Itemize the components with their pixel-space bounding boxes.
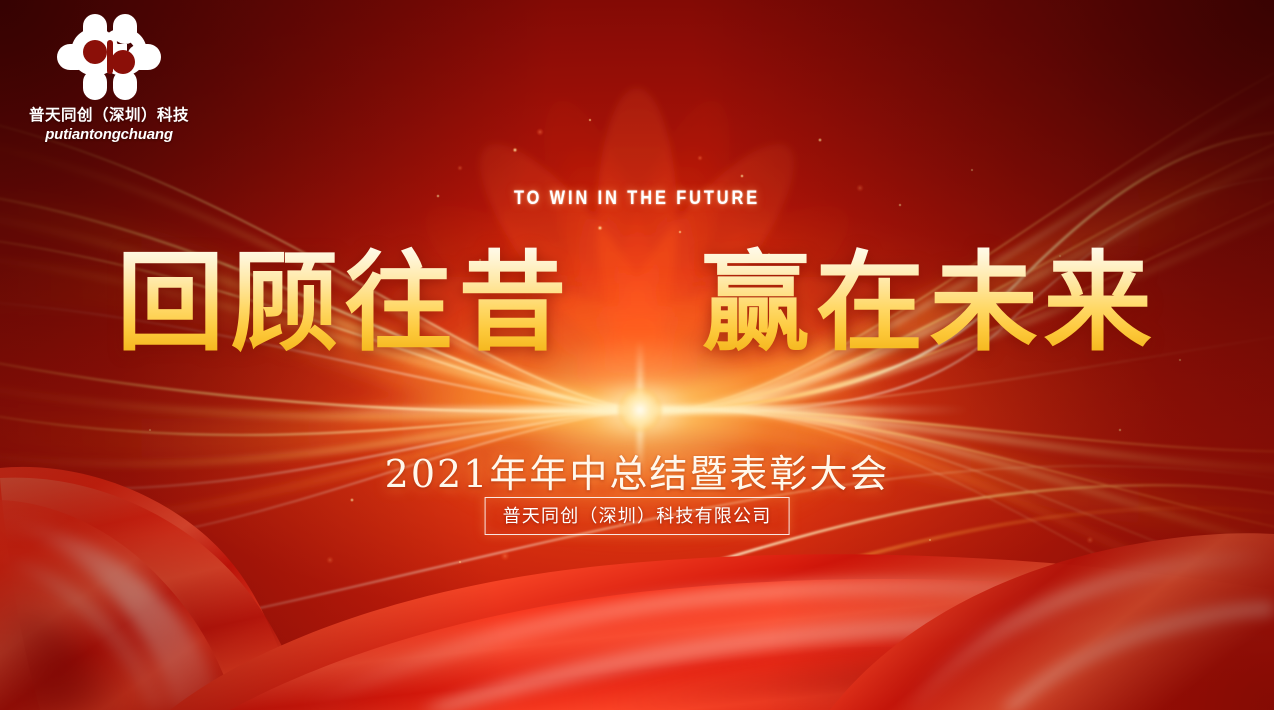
putian-tongchuang-emblem-icon	[57, 14, 161, 100]
headline-part-1: 回顾往昔	[116, 240, 572, 366]
logo-chinese-name: 普天同创（深圳）科技	[14, 103, 204, 125]
logo-pinyin: putiantongchuang	[14, 126, 204, 143]
company-name-box: 普天同创（深圳）科技有限公司	[485, 497, 790, 535]
main-headline: 回顾往昔 赢在未来	[0, 242, 1274, 364]
english-tagline: TO WIN IN THE FUTURE	[89, 188, 1185, 210]
company-logo[interactable]: 普天同创（深圳）科技 putiantongchuang	[14, 14, 204, 143]
headline-part-2: 赢在未来	[702, 240, 1158, 366]
event-subtitle: 2021年年中总结暨表彰大会	[0, 443, 1274, 498]
event-banner: 普天同创（深圳）科技 putiantongchuang TO WIN IN TH…	[0, 0, 1274, 710]
